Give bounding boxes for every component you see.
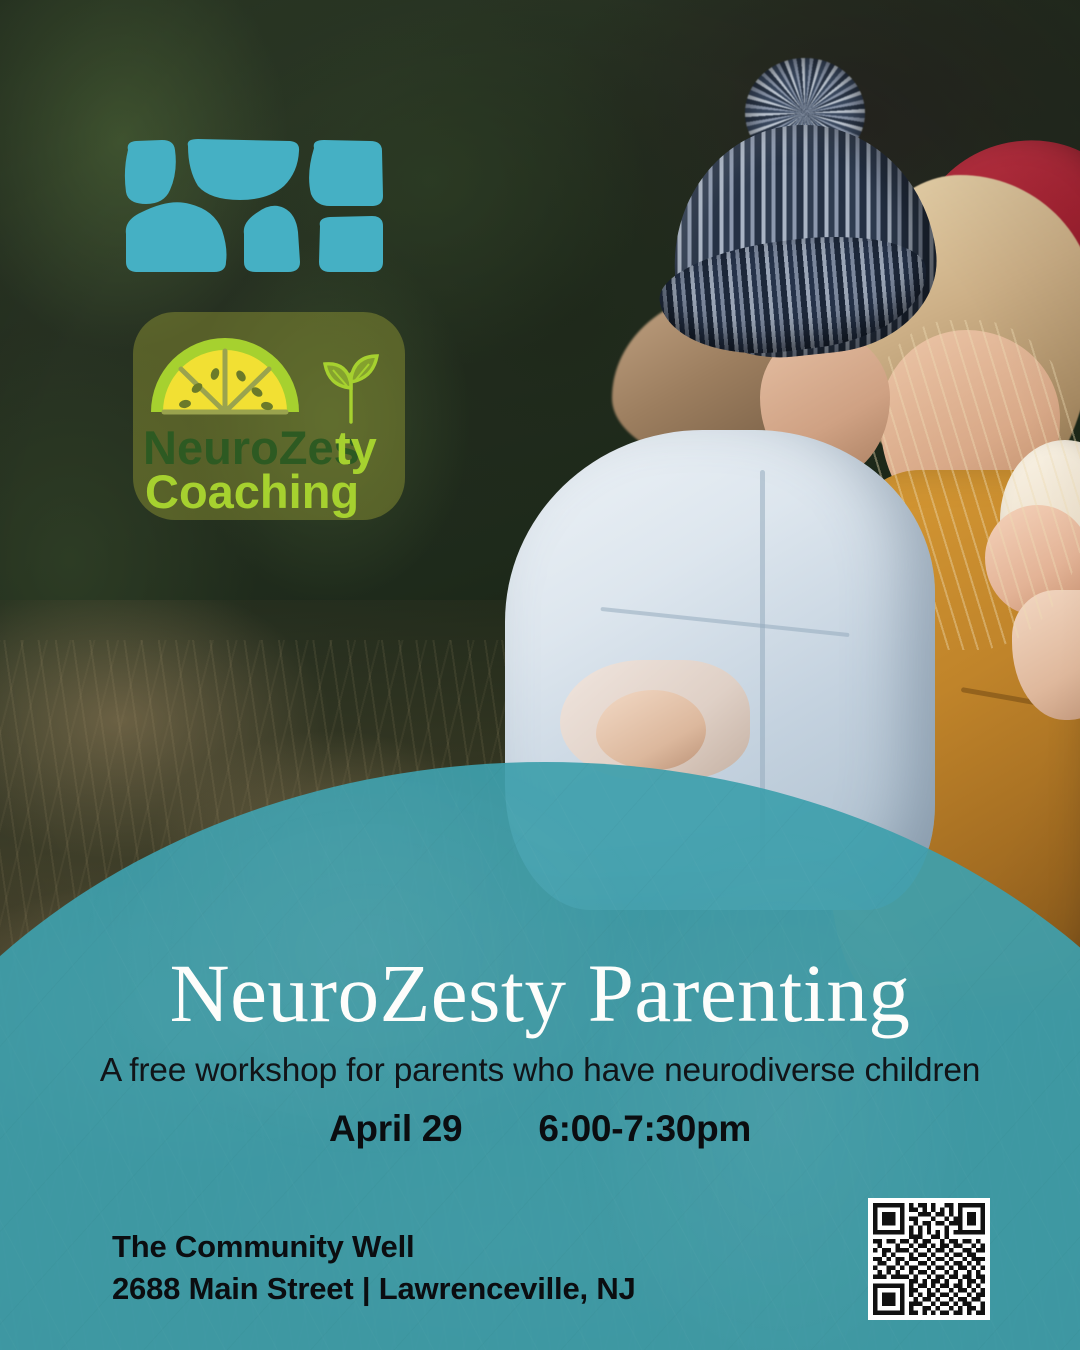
event-time: 6:00-7:30pm <box>538 1108 751 1150</box>
venue-name: The Community Well <box>112 1226 636 1268</box>
lemon-slice-icon <box>151 338 299 412</box>
event-when-row: April 29 6:00-7:30pm <box>0 1108 1080 1150</box>
sprout-icon <box>325 356 377 422</box>
venue-address: 2688 Main Street | Lawrenceville, NJ <box>112 1268 636 1310</box>
badge-wordmark-coaching: Coaching <box>145 465 359 518</box>
event-date: April 29 <box>329 1108 462 1150</box>
subtitle: A free workshop for parents who have neu… <box>0 1054 1080 1088</box>
stone-mosaic-logo <box>118 138 390 276</box>
poster-root: NeuroZes ty Coaching NeuroZesty Parentin… <box>0 0 1080 1350</box>
page-title: NeuroZesty Parenting <box>0 952 1080 1035</box>
venue-block: The Community Well 2688 Main Street | La… <box>112 1226 636 1310</box>
neurozesty-coaching-logo: NeuroZes ty Coaching <box>133 312 405 520</box>
qr-code[interactable] <box>868 1198 990 1320</box>
